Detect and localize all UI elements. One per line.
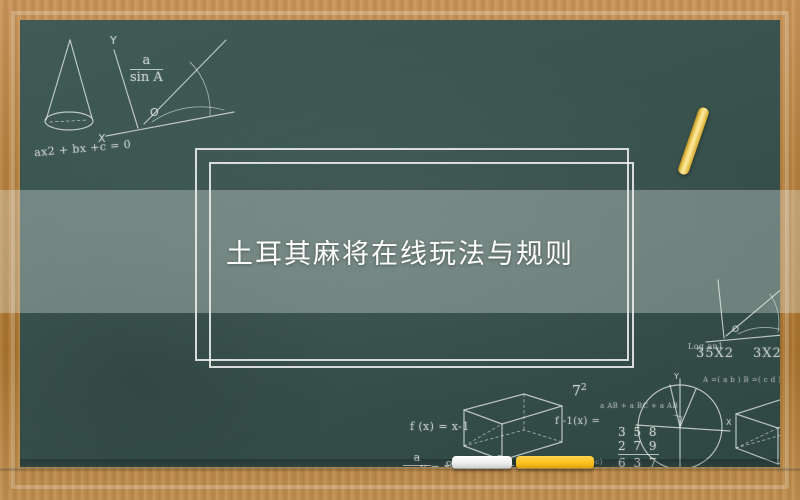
function-line-1: f (x) = x-1 — [410, 420, 474, 434]
log-label-text: Log an1 — [688, 342, 724, 352]
svg-text:X: X — [98, 132, 106, 145]
seven-squared-text: 72 — [572, 383, 587, 400]
svg-text:O: O — [732, 325, 739, 335]
matrix-expression-text: A =( a b ) B =( c d ) I =( 1 0 ) — [703, 376, 780, 385]
angle-construction-diagram-top: Y X O — [92, 28, 252, 148]
blackboard-wooden-frame: a sin A Y X O ax2 + bx +c = 0 f (x) = x-… — [0, 0, 800, 500]
fraction-bar — [130, 69, 163, 70]
inverse-function-text: f -1(x) = — [555, 416, 600, 429]
wooden-ledge — [0, 468, 800, 500]
addend-2: 2 7 9 — [618, 439, 659, 453]
multiply-35x2-text: 35X2 — [696, 346, 734, 362]
yellow-chalk-stick — [677, 106, 710, 176]
addition-bar — [618, 454, 659, 455]
fraction-denominator: sin A — [130, 71, 163, 85]
small-expression-text: a AB + a BC + a AB — [600, 402, 678, 411]
svg-text:Y: Y — [673, 372, 679, 381]
multiply-3x2-text: 3X2 — [753, 346, 780, 362]
circle-angle-diagram: Y X — [630, 375, 740, 467]
ledge-shadow — [0, 468, 800, 472]
cone-drawing-icon — [34, 34, 104, 139]
cube-drawing-right-icon — [732, 390, 780, 467]
law-of-sines-fraction-top: a sin A — [130, 54, 163, 84]
svg-text:X: X — [726, 418, 732, 427]
quadratic-equation-text: ax2 + bx +c = 0 — [34, 138, 132, 160]
svg-text:O: O — [150, 106, 159, 119]
fraction-numerator: a — [130, 54, 163, 68]
svg-text:Y: Y — [109, 34, 117, 47]
addend-1: 3 5 8 — [618, 425, 659, 439]
page-title: 土耳其麻将在线玩法与规则 — [0, 190, 800, 313]
